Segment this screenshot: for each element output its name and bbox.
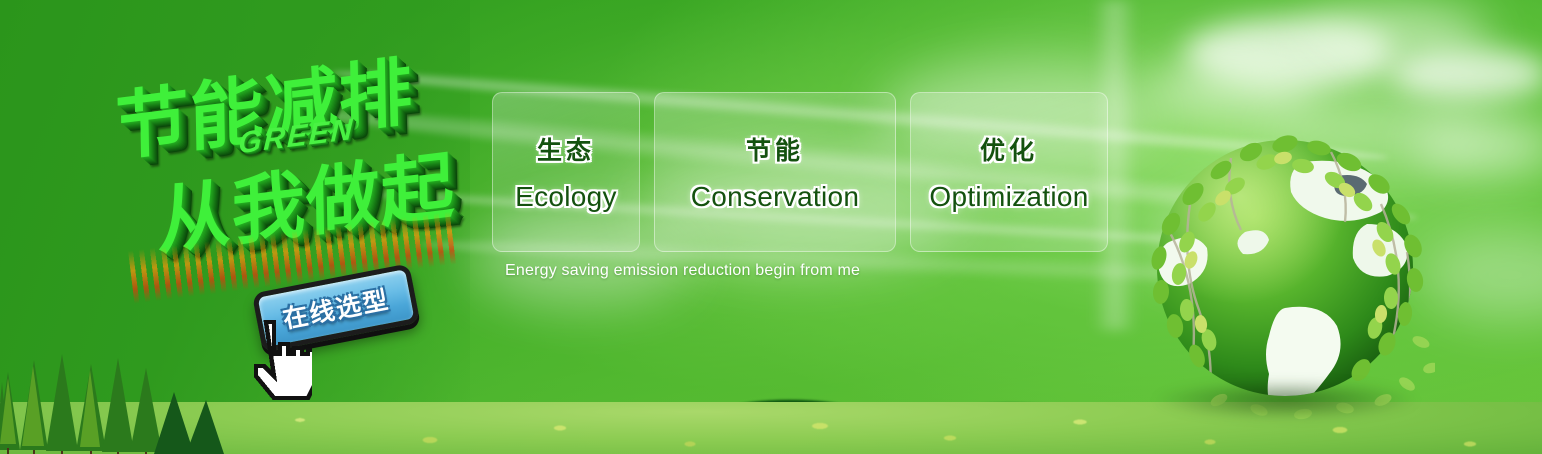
cloud-icon xyxy=(1390,48,1542,100)
feature-card-en-label: Conservation xyxy=(691,181,860,213)
leaf-globe-illustration xyxy=(1135,128,1435,428)
feature-cards: 生态 Ecology 节能 Conservation 优化 Optimizati… xyxy=(492,92,1108,252)
feature-card-en-label: Ecology xyxy=(515,181,617,213)
conifer-trees-icon xyxy=(0,352,224,454)
feature-card-ecology[interactable]: 生态 Ecology xyxy=(492,92,640,252)
feature-card-cn-label: 节能 xyxy=(746,131,804,167)
globe-shadow xyxy=(1155,380,1417,420)
feature-card-cn-label: 生态 xyxy=(537,131,595,167)
green-energy-banner: 节能减排 GREEN 从我做起 在线选型 生态 Ecology 节能 Conse… xyxy=(0,0,1542,454)
online-selection-button-label: 在线选型 xyxy=(280,280,393,336)
tagline: Energy saving emission reduction begin f… xyxy=(505,262,860,280)
feature-card-conservation[interactable]: 节能 Conservation xyxy=(654,92,896,252)
feature-card-en-label: Optimization xyxy=(929,181,1088,213)
feature-card-optimization[interactable]: 优化 Optimization xyxy=(910,92,1108,252)
headline-artwork: 节能减排 GREEN 从我做起 xyxy=(96,36,496,271)
feature-card-cn-label: 优化 xyxy=(980,131,1038,167)
